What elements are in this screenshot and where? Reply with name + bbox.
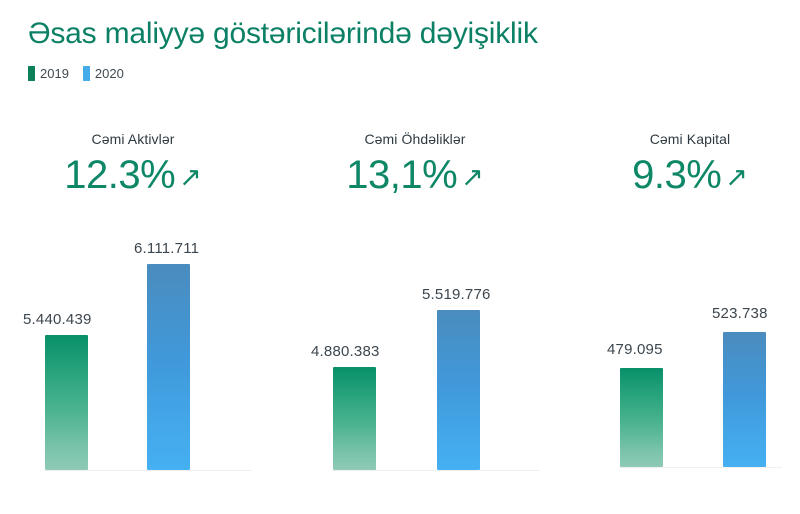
bar-2019[interactable] [620, 368, 663, 467]
kpi-value-row-total-capital: 9.3% ↗ [585, 155, 795, 195]
bar-value-2020: 6.111.711 [134, 240, 199, 257]
bar-2019[interactable] [333, 367, 376, 470]
group-baseline [332, 470, 540, 471]
kpi-label-total-capital: Cəmi Kapital [585, 131, 795, 147]
financial-change-chart: Əsas maliyyə göstəricilərində dəyişiklik… [0, 0, 800, 514]
arrow-up-right-icon: ↗ [461, 164, 484, 191]
page-title: Əsas maliyyə göstəricilərində dəyişiklik [28, 17, 538, 51]
group-baseline [619, 467, 782, 468]
arrow-up-right-icon: ↗ [179, 164, 202, 191]
kpi-label-total-assets: Cəmi Aktivlər [8, 131, 258, 147]
bar-2020[interactable] [437, 310, 480, 470]
legend-label-2020: 2020 [95, 67, 124, 80]
bar-2020[interactable] [147, 264, 190, 470]
kpi-value-row-total-assets: 12.3% ↗ [8, 155, 258, 195]
bar-group-total-capital: 479.095 523.738 [595, 228, 800, 478]
arrow-up-right-icon: ↗ [725, 164, 748, 191]
bar-value-2019: 4.880.383 [311, 343, 380, 360]
bar-2019[interactable] [45, 335, 88, 470]
bar-value-2020: 5.519.776 [422, 286, 491, 303]
kpi-total-capital: Cəmi Kapital 9.3% ↗ [585, 131, 795, 195]
bar-group-total-liabilities: 4.880.383 5.519.776 [308, 228, 558, 478]
kpi-total-assets: Cəmi Aktivlər 12.3% ↗ [8, 131, 258, 195]
legend-item-2020[interactable]: 2020 [83, 66, 124, 81]
bar-group-total-assets: 5.440.439 6.111.711 [20, 228, 270, 478]
kpi-total-liabilities: Cəmi Öhdəliklər 13,1% ↗ [290, 131, 540, 195]
group-baseline [44, 470, 252, 471]
kpi-label-total-liabilities: Cəmi Öhdəliklər [290, 131, 540, 147]
kpi-value-total-liabilities: 13,1% [346, 155, 457, 195]
bar-value-2019: 5.440.439 [23, 311, 92, 328]
kpi-value-total-capital: 9.3% [632, 155, 721, 195]
legend-item-2019[interactable]: 2019 [28, 66, 69, 81]
legend-swatch-2020 [83, 66, 90, 81]
kpi-value-total-assets: 12.3% [64, 155, 175, 195]
bar-value-2020: 523.738 [712, 305, 768, 322]
chart-legend: 2019 2020 [28, 66, 124, 81]
bar-value-2019: 479.095 [607, 341, 663, 358]
plot-area: 5.440.439 6.111.711 4.880.383 5.519.776 … [0, 228, 800, 478]
legend-swatch-2019 [28, 66, 35, 81]
legend-label-2019: 2019 [40, 67, 69, 80]
bar-2020[interactable] [723, 332, 766, 467]
kpi-value-row-total-liabilities: 13,1% ↗ [290, 155, 540, 195]
